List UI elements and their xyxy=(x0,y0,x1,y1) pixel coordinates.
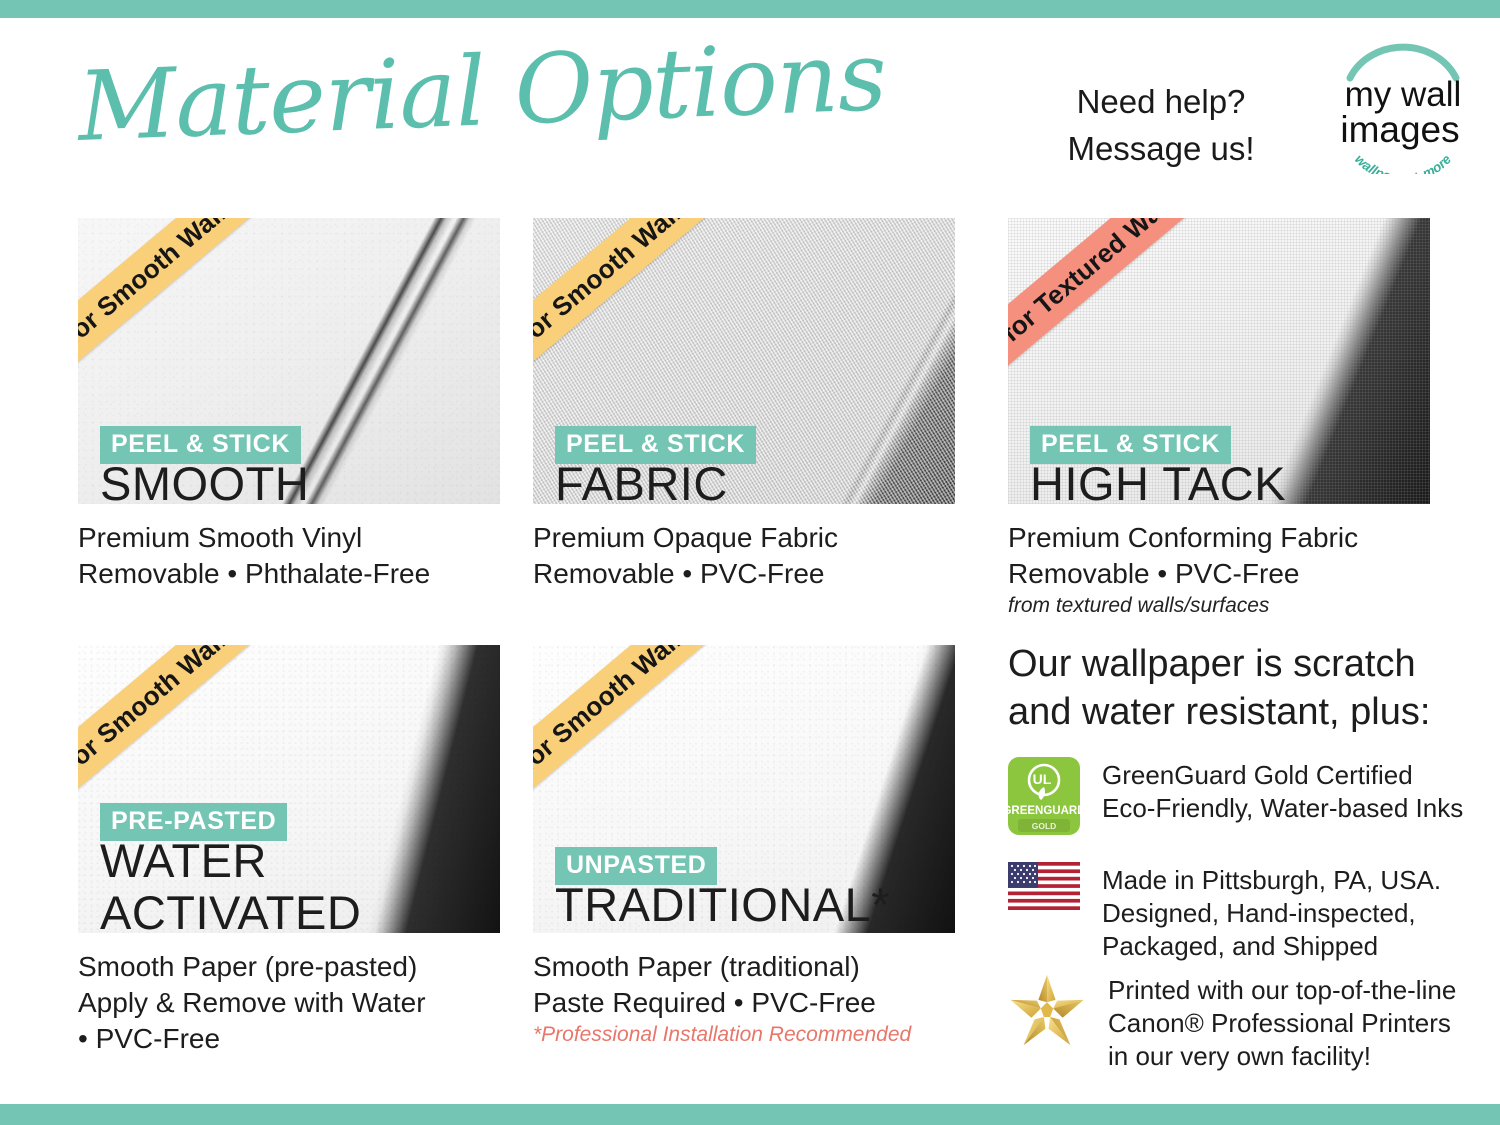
features-heading: Our wallpaper is scratch and water resis… xyxy=(1008,640,1458,736)
card-image: for Textured Walls PEEL & STICK HIGH TAC… xyxy=(1008,218,1430,504)
feature-canon-printers: Printed with our top-of-the-line Canon® … xyxy=(1008,972,1456,1073)
svg-text:UL: UL xyxy=(1033,771,1052,787)
card-description: Smooth Paper (traditional) Paste Require… xyxy=(533,949,955,1021)
card-image: for Smooth Walls UNPASTED TRADITIONAL* xyxy=(533,645,955,933)
feature-text: Printed with our top-of-the-line Canon® … xyxy=(1108,972,1456,1073)
card-title: WATER ACTIVATED xyxy=(100,835,361,933)
card-description: Smooth Paper (pre-pasted) Apply & Remove… xyxy=(78,949,500,1057)
card-image: for Smooth Walls PEEL & STICK FABRIC xyxy=(533,218,955,504)
card-image: for Smooth Walls PRE-PASTED WATER ACTIVA… xyxy=(78,645,500,933)
material-card-fabric[interactable]: for Smooth Walls PEEL & STICK FABRIC Pre… xyxy=(533,218,955,592)
card-title: HIGH TACK xyxy=(1030,458,1286,504)
material-card-high-tack[interactable]: for Textured Walls PEEL & STICK HIGH TAC… xyxy=(1008,218,1430,620)
card-title: FABRIC xyxy=(555,458,728,504)
feature-text: Made in Pittsburgh, PA, USA. Designed, H… xyxy=(1102,862,1441,963)
card-note: *Professional Installation Recommended xyxy=(533,1021,955,1049)
usa-flag-icon xyxy=(1008,862,1080,915)
page-title: Material Options xyxy=(76,23,740,168)
need-help-text: Need help? Message us! xyxy=(1020,78,1302,172)
svg-text:GREENGUARD: GREENGUARD xyxy=(1008,805,1080,817)
need-help-line1: Need help? xyxy=(1020,78,1302,125)
greenguard-gold-badge-icon: UL GREENGUARD GOLD xyxy=(1008,757,1080,840)
card-description: Premium Opaque Fabric Removable • PVC-Fr… xyxy=(533,520,955,592)
card-image: for Smooth Walls PEEL & STICK SMOOTH xyxy=(78,218,500,504)
bottom-accent-band xyxy=(0,1104,1500,1125)
need-help-line2: Message us! xyxy=(1020,125,1302,172)
top-accent-band xyxy=(0,0,1500,18)
material-card-smooth[interactable]: for Smooth Walls PEEL & STICK SMOOTH Pre… xyxy=(78,218,500,592)
feature-greenguard: UL GREENGUARD GOLD GreenGuard Gold Certi… xyxy=(1008,757,1463,840)
feature-made-in-usa: Made in Pittsburgh, PA, USA. Designed, H… xyxy=(1008,862,1441,963)
card-description: Premium Smooth Vinyl Removable • Phthala… xyxy=(78,520,500,592)
feature-text: GreenGuard Gold Certified Eco-Friendly, … xyxy=(1102,757,1463,825)
svg-text:GOLD: GOLD xyxy=(1032,821,1057,831)
card-title: SMOOTH xyxy=(100,458,309,504)
brand-logo: my wall images wallpaper + more xyxy=(1328,34,1478,174)
material-card-water-activated[interactable]: for Smooth Walls PRE-PASTED WATER ACTIVA… xyxy=(78,645,500,1057)
material-card-traditional[interactable]: for Smooth Walls UNPASTED TRADITIONAL* S… xyxy=(533,645,955,1049)
gold-star-icon xyxy=(1008,972,1086,1053)
svg-text:images: images xyxy=(1340,109,1459,150)
card-note: from textured walls/surfaces xyxy=(1008,592,1430,620)
card-title: TRADITIONAL* xyxy=(555,879,890,931)
svg-text:wallpaper + more: wallpaper + more xyxy=(1352,151,1455,174)
card-description: Premium Conforming Fabric Removable • PV… xyxy=(1008,520,1430,592)
